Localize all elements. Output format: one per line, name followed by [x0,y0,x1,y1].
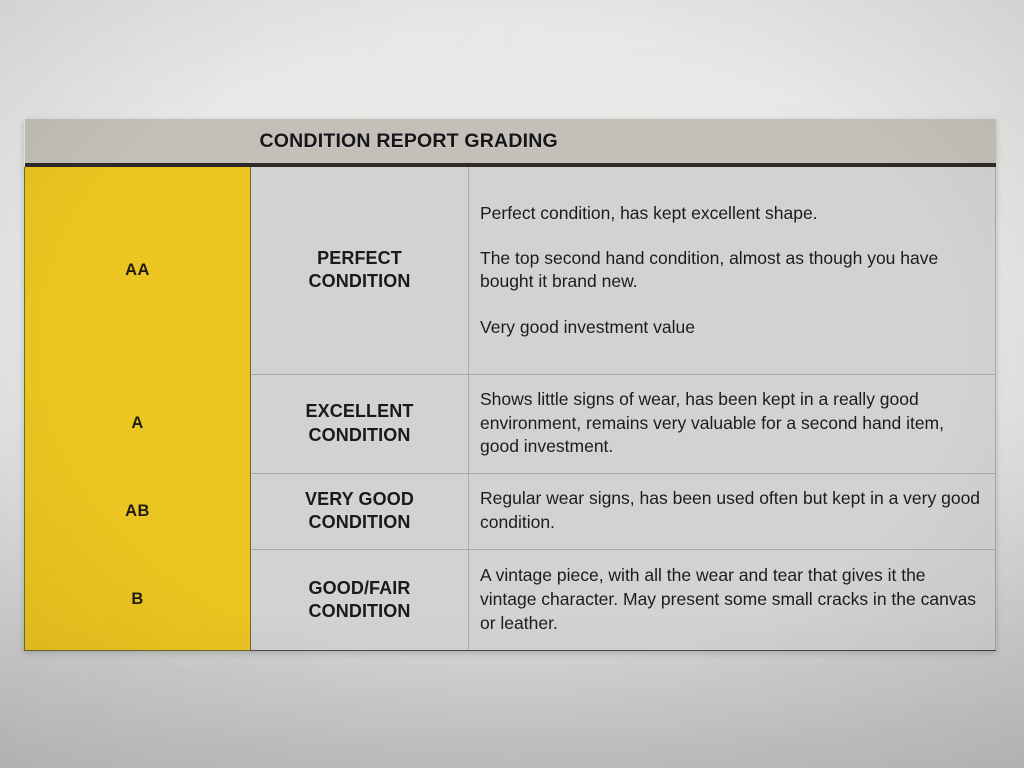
grade-cell-aa: AA [25,167,251,374]
condition-title-cell-b: GOOD/FAIR CONDITION [251,549,469,651]
condition-title-cell-ab: VERY GOOD CONDITION [251,473,469,549]
description-paragraph: Perfect condition, has kept excellent sh… [480,202,981,225]
table-row: AB VERY GOOD CONDITION Regular wear sign… [25,473,996,549]
condition-title-cell-a: EXCELLENT CONDITION [251,374,469,473]
condition-title-line2: CONDITION [259,600,460,623]
table-row: B GOOD/FAIR CONDITION A vintage piece, w… [25,549,996,651]
description-paragraph: Shows little signs of wear, has been kep… [480,388,981,459]
condition-title-line1: PERFECT [259,247,460,270]
condition-title-line1: EXCELLENT [259,400,460,423]
description-cell-b: A vintage piece, with all the wear and t… [469,549,996,651]
condition-title-line2: CONDITION [259,424,460,447]
description-paragraph: Regular wear signs, has been used often … [480,487,981,534]
table-header-row: CONDITION REPORT GRADING [25,119,996,163]
table-row: A EXCELLENT CONDITION Shows little signs… [25,374,996,473]
grade-label: AA [125,261,150,279]
description-cell-ab: Regular wear signs, has been used often … [469,473,996,549]
description-paragraph: The top second hand condition, almost as… [480,247,981,294]
description-paragraph: Very good investment value [480,316,981,339]
grade-cell-b: B [25,549,251,651]
grade-label: A [131,414,143,432]
grade-label: AB [125,502,150,520]
description-cell-aa: Perfect condition, has kept excellent sh… [469,167,996,374]
page-title: CONDITION REPORT GRADING [251,130,996,153]
description-cell-a: Shows little signs of wear, has been kep… [469,374,996,473]
header-blank-cell [25,119,251,163]
grade-label: B [131,590,143,608]
condition-title-line1: VERY GOOD [259,488,460,511]
grade-cell-ab: AB [25,473,251,549]
table-row: AA PERFECT CONDITION Perfect condition, … [25,167,996,374]
grade-cell-a: A [25,374,251,473]
description-paragraph: A vintage piece, with all the wear and t… [480,564,981,635]
condition-title-cell-aa: PERFECT CONDITION [251,167,469,374]
condition-title-line2: CONDITION [259,270,460,293]
condition-title-line2: CONDITION [259,511,460,534]
condition-report-grading-table: CONDITION REPORT GRADING AA PERFECT COND… [24,119,996,651]
condition-title-line1: GOOD/FAIR [259,577,460,600]
table-title-cell: CONDITION REPORT GRADING [251,119,996,163]
